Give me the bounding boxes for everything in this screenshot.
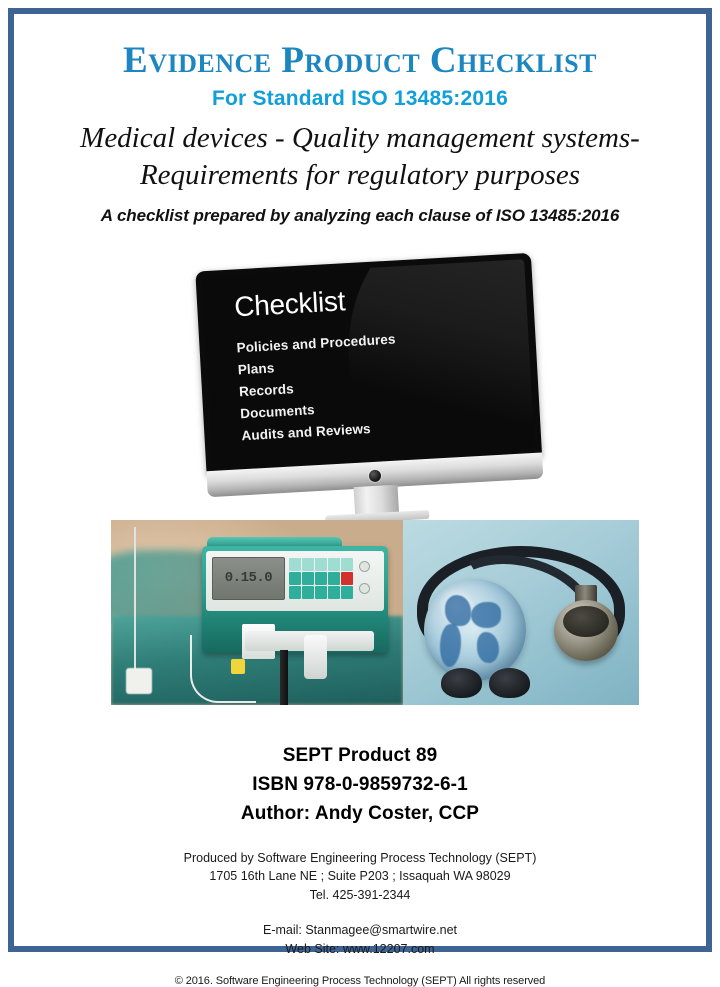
iv-line: [134, 527, 136, 671]
standard-scope: Medical devices - Quality management sys…: [14, 120, 706, 194]
globe-landmass: [477, 632, 499, 663]
keypad-key: [328, 572, 340, 585]
pump-tubing: [190, 635, 256, 704]
screen-content: Checklist Policies and Procedures Plans …: [233, 276, 523, 447]
monitor-illustration-wrap: Checklist Policies and Procedures Plans …: [14, 262, 706, 527]
photo-strip: 0.15.0: [111, 520, 639, 705]
pump-keypad: [289, 558, 353, 599]
keypad-key: [328, 586, 340, 599]
standard-scope-line-2: Requirements for regulatory purposes: [40, 157, 680, 194]
stethoscope-diaphragm: [563, 606, 609, 638]
photo-globe-stethoscope: [403, 520, 639, 705]
pump-round-button: [359, 583, 370, 594]
pump-round-button: [359, 561, 370, 572]
page-content: Evidence Product Checklist For Standard …: [14, 14, 706, 946]
publisher-name: Produced by Software Engineering Process…: [14, 849, 706, 868]
keypad-key: [302, 572, 314, 585]
monitor-screen: Checklist Policies and Procedures Plans …: [203, 259, 535, 469]
keypad-stop-key: [341, 572, 353, 585]
publisher-contact-block: E-mail: Stanmagee@smartwire.net Web Site…: [14, 921, 706, 959]
keypad-key: [289, 558, 301, 571]
pump-lcd-display: 0.15.0: [212, 557, 286, 600]
iv-pole: [280, 650, 287, 706]
screen-title: Checklist: [233, 276, 516, 324]
keypad-key: [289, 586, 301, 599]
author: Author: Andy Coster, CCP: [14, 800, 706, 829]
standard-scope-line-1: Medical devices - Quality management sys…: [40, 120, 680, 157]
standard-subtitle: For Standard ISO 13485:2016: [14, 87, 706, 111]
publisher-address-block: Produced by Software Engineering Process…: [14, 849, 706, 905]
camera-icon: [369, 470, 382, 483]
checklist-tagline: A checklist prepared by analyzing each c…: [14, 206, 706, 226]
globe-landmass: [471, 602, 501, 628]
keypad-key: [315, 586, 327, 599]
page-title: Evidence Product Checklist: [14, 42, 706, 81]
publication-main-details: SEPT Product 89 ISBN 978-0-9859732-6-1 A…: [14, 742, 706, 829]
product-number: SEPT Product 89: [14, 742, 706, 771]
document-cover-page: Evidence Product Checklist For Standard …: [0, 0, 720, 960]
keypad-key: [328, 558, 340, 571]
photo-infusion-pump: 0.15.0: [111, 520, 403, 705]
checklist-items-list: Policies and Procedures Plans Records Do…: [236, 322, 524, 448]
publisher-email: E-mail: Stanmagee@smartwire.net: [14, 921, 706, 940]
publication-info-block: SEPT Product 89 ISBN 978-0-9859732-6-1 A…: [14, 742, 706, 987]
pump-plunger-knob: [304, 635, 327, 679]
keypad-key: [289, 572, 301, 585]
stethoscope-eartip: [489, 668, 530, 698]
glass-globe: [424, 579, 525, 681]
isbn: ISBN 978-0-9859732-6-1: [14, 771, 706, 800]
monitor-body: Checklist Policies and Procedures Plans …: [195, 253, 542, 475]
keypad-key: [341, 558, 353, 571]
publisher-telephone: Tel. 425-391-2344: [14, 886, 706, 905]
keypad-key: [302, 558, 314, 571]
gauze-dressing: [126, 668, 152, 694]
publisher-website: Web Site: www.12207.com: [14, 940, 706, 959]
pump-lcd-value: 0.15.0: [225, 570, 272, 586]
desktop-monitor-graphic: Checklist Policies and Procedures Plans …: [195, 253, 544, 521]
stethoscope-eartip: [441, 668, 482, 698]
copyright-notice: © 2016. Software Engineering Process Tec…: [14, 975, 706, 987]
keypad-key: [302, 586, 314, 599]
keypad-key: [315, 558, 327, 571]
stethoscope-eartips: [441, 668, 531, 698]
keypad-key: [315, 572, 327, 585]
globe-landmass: [445, 595, 471, 626]
page-border-frame: Evidence Product Checklist For Standard …: [8, 8, 712, 952]
stethoscope-chestpiece: [554, 600, 618, 661]
globe-landmass: [440, 624, 460, 667]
keypad-key: [341, 586, 353, 599]
publisher-address: 1705 16th Lane NE ; Suite P203 ; Issaqua…: [14, 867, 706, 886]
